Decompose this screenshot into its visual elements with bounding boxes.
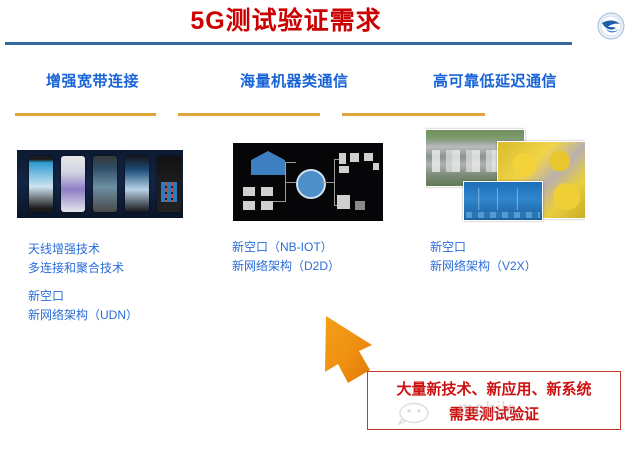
column-body-embb: 天线增强技术 多连接和聚合技术 新空口 新网络架构（UDN） bbox=[28, 240, 138, 325]
iot-device-6 bbox=[350, 153, 359, 162]
title-divider bbox=[5, 42, 572, 45]
smartphone-lineup-image bbox=[17, 150, 183, 218]
iot-device-7 bbox=[364, 153, 373, 161]
column-underline-urllc bbox=[342, 113, 485, 116]
iot-device-1 bbox=[243, 187, 255, 196]
iot-link-1 bbox=[285, 162, 296, 163]
iot-device-11 bbox=[355, 201, 365, 210]
column-body-line: 新空口 bbox=[28, 287, 138, 306]
iot-link-8 bbox=[334, 159, 335, 205]
company-bird-logo bbox=[597, 12, 625, 40]
phone-2 bbox=[61, 156, 85, 212]
phone-4 bbox=[125, 156, 149, 212]
phone-3 bbox=[93, 156, 117, 212]
wind-turbines-photo bbox=[463, 181, 543, 221]
iot-device-10 bbox=[337, 195, 350, 209]
column-body-line: 新网络架构（D2D） bbox=[232, 257, 340, 276]
v2x-industry-collage-image bbox=[425, 125, 585, 223]
column-body-spacer bbox=[28, 278, 138, 287]
column-body-line: 新空口（NB-IOT） bbox=[232, 238, 340, 257]
network-hub-icon bbox=[296, 169, 326, 199]
iot-link-7 bbox=[322, 182, 334, 183]
conclusion-line-1: 大量新技术、新应用、新系统 bbox=[368, 378, 620, 399]
column-body-line: 新空口 bbox=[430, 238, 537, 257]
column-underline-mmtc bbox=[178, 113, 320, 116]
column-body-urllc: 新空口 新网络架构（V2X） bbox=[430, 238, 537, 276]
iot-device-2 bbox=[261, 187, 273, 196]
iot-device-9 bbox=[373, 163, 379, 170]
iot-device-5 bbox=[339, 153, 346, 164]
column-heading-embb: 增强宽带连接 bbox=[46, 70, 139, 91]
iot-device-4 bbox=[261, 201, 273, 210]
column-body-line: 新网络架构（V2X） bbox=[430, 257, 537, 276]
column-underline-embb bbox=[15, 113, 156, 116]
page-title: 5G测试验证需求 bbox=[0, 2, 572, 40]
phone-1 bbox=[29, 156, 53, 212]
column-body-line: 多连接和聚合技术 bbox=[28, 259, 138, 278]
smart-home-icon bbox=[251, 151, 285, 175]
column-body-line: 新网络架构（UDN） bbox=[28, 306, 138, 325]
conclusion-line-2: 需要测试验证 bbox=[368, 403, 620, 424]
column-body-line: 天线增强技术 bbox=[28, 240, 138, 259]
iot-link-6 bbox=[285, 182, 286, 202]
iot-device-3 bbox=[243, 201, 255, 210]
wind-photo-caption-strip bbox=[466, 212, 540, 218]
conclusion-callout-box: 大量新技术、新应用、新系统 需要测试验证 bbox=[367, 371, 621, 430]
iot-link-2 bbox=[285, 162, 286, 182]
column-heading-urllc: 高可靠低延迟通信 bbox=[433, 70, 557, 91]
iot-link-3 bbox=[285, 182, 296, 183]
phone-5 bbox=[157, 156, 181, 212]
column-heading-mmtc: 海量机器类通信 bbox=[240, 70, 349, 91]
iot-device-8 bbox=[339, 166, 349, 173]
iot-network-diagram-image bbox=[233, 143, 383, 221]
column-body-mmtc: 新空口（NB-IOT） 新网络架构（D2D） bbox=[232, 238, 340, 276]
